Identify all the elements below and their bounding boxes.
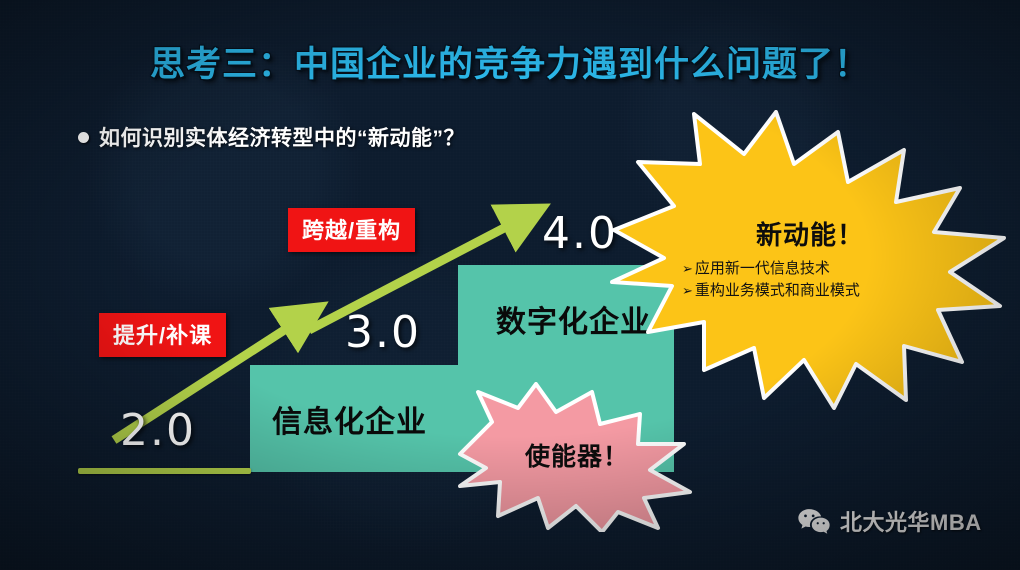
- callout-new-momentum-content: 新动能！ ➢应用新一代信息技术 ➢重构业务模式和商业模式: [660, 215, 960, 302]
- callout-enabler-content: 使能器！: [452, 437, 702, 473]
- tag-leapfrog: 跨越/重构: [288, 208, 415, 252]
- version-label-4-0: 4.0: [542, 208, 618, 259]
- callout-new-momentum-item-2: ➢重构业务模式和商业模式: [660, 280, 960, 302]
- slide-canvas: 数字化企业 信息化企业 2.0 3.0 4.0 提升/补课 跨越/重构 使能器！: [0, 0, 1020, 570]
- chevron-right-icon: ➢: [682, 284, 693, 299]
- tag-upgrade: 提升/补课: [99, 313, 226, 357]
- version-label-3-0: 3.0: [345, 307, 421, 358]
- callout-enabler-title: 使能器！: [452, 437, 702, 473]
- baseline-rule: [78, 468, 251, 474]
- callout-new-momentum-title: 新动能！: [660, 215, 960, 252]
- bullet-text: 如何识别实体经济转型中的“新动能”？: [99, 122, 465, 152]
- footer-brand: 北大光华MBA: [797, 505, 982, 537]
- chevron-right-icon: ➢: [682, 262, 693, 277]
- version-label-2-0: 2.0: [120, 405, 196, 456]
- page-title: 思考三：中国企业的竞争力遇到什么问题了！: [0, 36, 1020, 87]
- bullet-row: 如何识别实体经济转型中的“新动能”？: [78, 122, 465, 152]
- bullet-dot-icon: [78, 132, 89, 143]
- wechat-icon: [797, 507, 831, 535]
- callout-new-momentum-item-1: ➢应用新一代信息技术: [660, 258, 960, 280]
- footer-brand-text: 北大光华MBA: [840, 505, 982, 537]
